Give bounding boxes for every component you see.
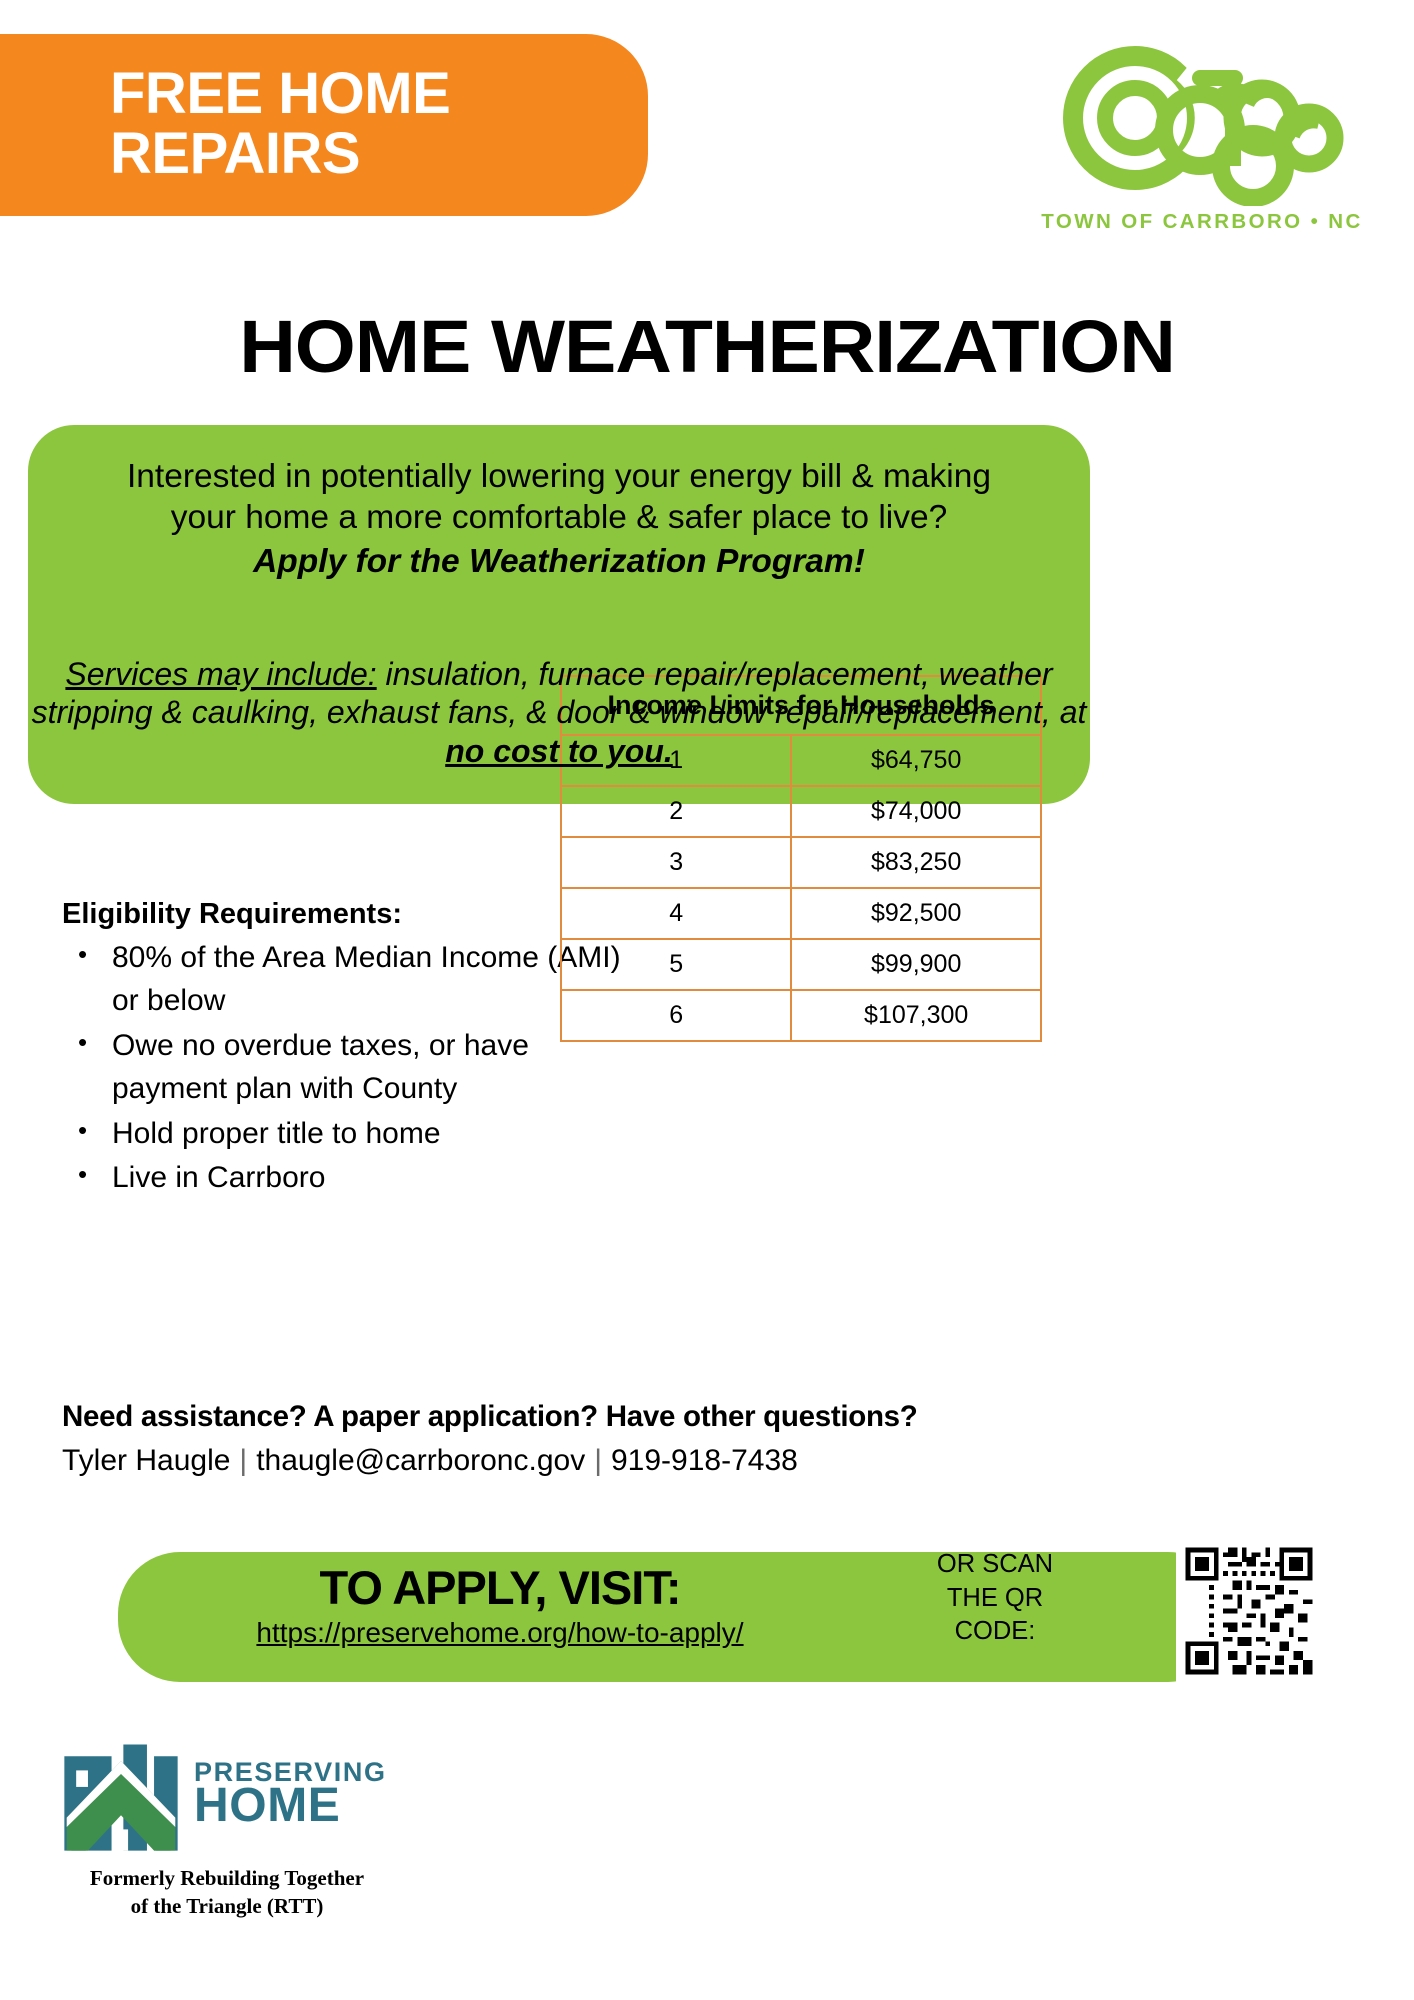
qr-code-icon <box>1181 1543 1317 1679</box>
carrboro-wordmark-icon <box>1057 26 1347 206</box>
intro-question-line-1: Interested in potentially lowering your … <box>62 457 1056 498</box>
apply-cta-group: TO APPLY, VISIT: https://preservehome.or… <box>150 1560 850 1649</box>
contact-email[interactable]: thaugle@carrboronc.gov <box>256 1444 585 1477</box>
contact-separator: | <box>230 1444 256 1477</box>
income-limit: $92,500 <box>791 888 1041 939</box>
preserving-home-wordmark: PRESERVING HOME <box>194 1760 387 1829</box>
income-limit: $99,900 <box>791 939 1041 990</box>
apply-heading: TO APPLY, VISIT: <box>150 1560 850 1615</box>
free-home-repairs-badge: FREE HOME REPAIRS <box>0 34 648 216</box>
income-limit: $107,300 <box>791 990 1041 1041</box>
household-size: 3 <box>561 837 791 888</box>
badge-line-1: FREE HOME <box>110 64 648 124</box>
contact-details: Tyler Haugle|thaugle@carrboronc.gov|919-… <box>62 1444 1162 1478</box>
household-size: 2 <box>561 786 791 837</box>
list-item: Owe no overdue taxes, or have payment pl… <box>106 1025 622 1111</box>
eligibility-section: Eligibility Requirements: 80% of the Are… <box>62 898 622 1202</box>
subtitle-line-1: Formerly Rebuilding Together <box>62 1865 392 1893</box>
contact-phone[interactable]: 919-918-7438 <box>611 1444 798 1477</box>
intro-panel: Interested in potentially lowering your … <box>28 425 1090 650</box>
list-item: 80% of the Area Median Income (AMI) or b… <box>106 937 622 1023</box>
intro-call-to-action: Apply for the Weatherization Program! <box>62 543 1056 581</box>
contact-question: Need assistance? A paper application? Ha… <box>62 1400 1162 1434</box>
logo-word-home: HOME <box>194 1784 387 1828</box>
income-limit: $74,000 <box>791 786 1041 837</box>
preserving-home-subtitle: Formerly Rebuilding Together of the Tria… <box>62 1865 392 1920</box>
town-of-carrboro-logo: TOWN OF CARRBORO • NC <box>1032 26 1372 246</box>
subtitle-line-2: of the Triangle (RTT) <box>62 1893 392 1921</box>
table-row: 4 $92,500 <box>561 888 1041 939</box>
table-row: 3 $83,250 <box>561 837 1041 888</box>
page-title: HOME WEATHERIZATION <box>0 310 1414 384</box>
household-size: 6 <box>561 990 791 1041</box>
town-label: TOWN OF CARRBORO • NC <box>1032 210 1372 234</box>
badge-line-2: REPAIRS <box>110 124 648 184</box>
flyer-page: FREE HOME REPAIRS <box>0 0 1414 2000</box>
qr-code[interactable] <box>1176 1538 1322 1684</box>
services-label: Services may include: <box>65 656 376 692</box>
house-icon <box>62 1735 180 1853</box>
household-size: 5 <box>561 939 791 990</box>
apply-url-link[interactable]: https://preservehome.org/how-to-apply/ <box>150 1617 850 1649</box>
contact-separator: | <box>585 1444 611 1477</box>
preserving-home-logo-row: PRESERVING HOME <box>62 1735 452 1853</box>
services-emphasis: no cost to you. <box>445 733 673 769</box>
list-item: Live in Carrboro <box>106 1157 622 1200</box>
scan-line-2: THE QR <box>905 1582 1085 1616</box>
household-size: 4 <box>561 888 791 939</box>
eligibility-title: Eligibility Requirements: <box>62 898 622 931</box>
table-row: 6 $107,300 <box>561 990 1041 1041</box>
intro-question-line-2: your home a more comfortable & safer pla… <box>62 498 1056 539</box>
scan-line-1: OR SCAN <box>905 1548 1085 1582</box>
services-text: Services may include: insulation, furnac… <box>28 655 1090 770</box>
list-item: Hold proper title to home <box>106 1113 622 1156</box>
income-limit: $83,250 <box>791 837 1041 888</box>
contact-section: Need assistance? A paper application? Ha… <box>62 1400 1162 1478</box>
table-row: 5 $99,900 <box>561 939 1041 990</box>
table-row: 2 $74,000 <box>561 786 1041 837</box>
contact-name: Tyler Haugle <box>62 1444 230 1477</box>
scan-line-3: CODE: <box>905 1615 1085 1649</box>
preserving-home-logo: PRESERVING HOME Formerly Rebuilding Toge… <box>62 1735 452 1920</box>
scan-qr-instruction: OR SCAN THE QR CODE: <box>905 1548 1085 1649</box>
eligibility-list: 80% of the Area Median Income (AMI) or b… <box>62 937 622 1200</box>
